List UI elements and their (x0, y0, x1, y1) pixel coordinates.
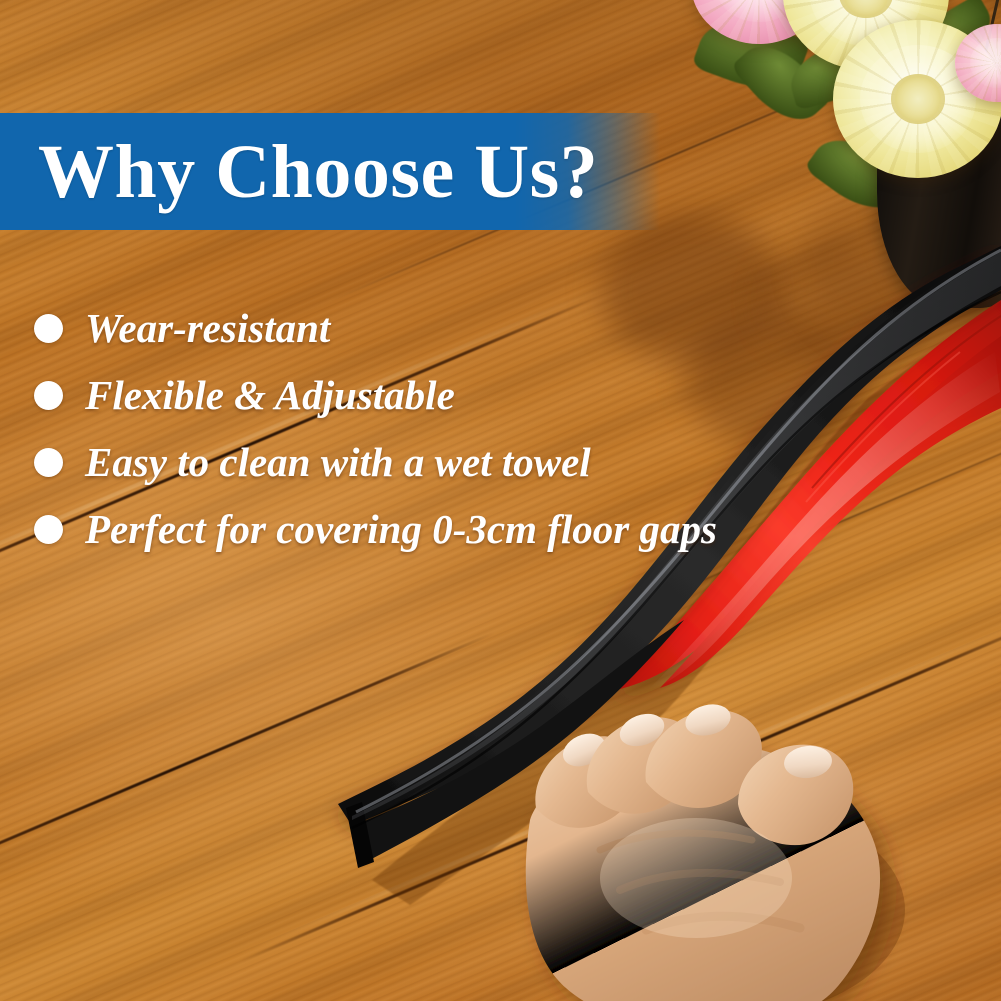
product-poster: Why Choose Us? Wear-resistant Flexible &… (0, 0, 1001, 1001)
page-title: Why Choose Us? (38, 134, 598, 210)
header-banner: Why Choose Us? (0, 113, 660, 230)
hand-svg (470, 700, 930, 1001)
bullet-dot-icon (34, 515, 63, 544)
feature-item: Flexible & Adjustable (34, 362, 754, 429)
feature-label: Wear-resistant (85, 307, 330, 350)
feature-label: Flexible & Adjustable (85, 374, 455, 417)
feature-label: Easy to clean with a wet towel (85, 441, 591, 484)
hand-pressing-strip (470, 700, 930, 1001)
feature-item: Easy to clean with a wet towel (34, 429, 754, 496)
feature-label: Perfect for covering 0-3cm floor gaps (85, 508, 717, 551)
bullet-dot-icon (34, 448, 63, 477)
feature-item: Perfect for covering 0-3cm floor gaps (34, 496, 754, 563)
bullet-dot-icon (34, 381, 63, 410)
hand-highlight (600, 818, 792, 938)
feature-item: Wear-resistant (34, 295, 754, 362)
feature-list: Wear-resistant Flexible & Adjustable Eas… (34, 295, 754, 563)
bullet-dot-icon (34, 314, 63, 343)
